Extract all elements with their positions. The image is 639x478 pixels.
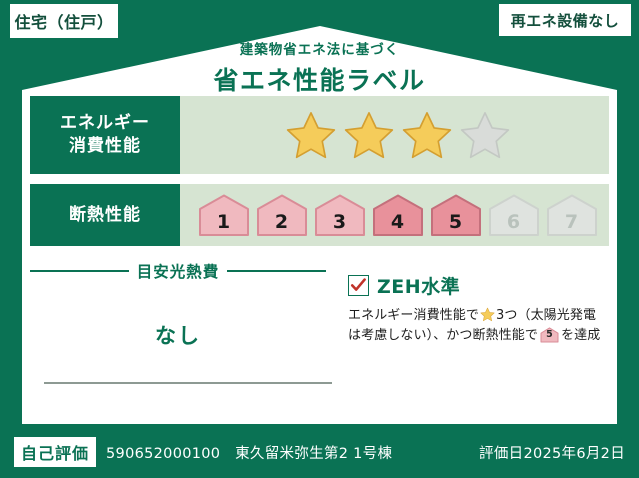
insulation-level-number: 4: [372, 211, 424, 233]
zeh-desc-part1: エネルギー消費性能で: [348, 308, 479, 323]
label-content: エネルギー 消費性能 断熱性能 1234567 目安光熱費: [22, 96, 617, 424]
label-lower-section: 目安光熱費 なし ZEH水準 エネルギー消費性能で3つ（太陽光発電は考慮しな: [22, 258, 617, 418]
insulation-level-number: 1: [198, 211, 250, 233]
energy-performance-label-line1: エネルギー: [60, 112, 150, 135]
insulation-badge-inline: 5: [540, 327, 559, 343]
insulation-badge-inline-number: 5: [540, 328, 559, 343]
insulation-level-number: 7: [546, 211, 598, 233]
utility-cost-value: なし: [30, 320, 326, 350]
zeh-checkbox[interactable]: [348, 275, 369, 296]
insulation-level-badge-3: 3: [314, 193, 366, 237]
energy-performance-label: 住宅（住戸） 再エネ設備なし 建築物省エネ法に基づく 省エネ性能ラベル エネルギ…: [0, 0, 639, 478]
insulation-level-badge-6: 6: [488, 193, 540, 237]
zeh-desc-part3: を達成: [561, 328, 600, 343]
utility-cost-block: 目安光熱費 なし: [30, 258, 326, 418]
insulation-level-badge-4: 4: [372, 193, 424, 237]
star-icon-empty: [459, 110, 511, 160]
insulation-level-number: 3: [314, 211, 366, 233]
building-id-and-name: 590652000100 東久留米弥生第2 1号棟: [106, 442, 392, 463]
zeh-block: ZEH水準 エネルギー消費性能で3つ（太陽光発電は考慮しない）、かつ断熱性能で5…: [326, 258, 609, 418]
insulation-performance-scale-area: 1234567: [180, 184, 609, 246]
star-icon-filled: [285, 110, 337, 160]
label-subtitle: 建築物省エネ法に基づく: [0, 38, 639, 58]
insulation-level-number: 5: [430, 211, 482, 233]
label-title-block: 建築物省エネ法に基づく 省エネ性能ラベル: [0, 38, 639, 97]
rule-right: [227, 270, 326, 272]
energy-performance-row: エネルギー 消費性能: [30, 96, 609, 174]
insulation-level-number: 6: [488, 211, 540, 233]
evaluation-date: 評価日2025年6月2日: [479, 442, 625, 463]
check-icon: [350, 277, 367, 294]
zeh-description: エネルギー消費性能で3つ（太陽光発電は考慮しない）、かつ断熱性能で5を達成: [348, 306, 609, 346]
zeh-heading: ZEH水準: [348, 272, 609, 299]
insulation-level-badge-1: 1: [198, 193, 250, 237]
insulation-performance-row: 断熱性能 1234567: [30, 184, 609, 246]
star-icon-inline: [480, 307, 495, 322]
utility-cost-heading: 目安光熱費: [30, 260, 326, 282]
energy-performance-label: エネルギー 消費性能: [30, 96, 180, 174]
insulation-performance-label-text: 断熱性能: [69, 204, 141, 227]
label-footer: 自己評価 590652000100 東久留米弥生第2 1号棟 評価日2025年6…: [0, 426, 639, 478]
energy-performance-label-line2: 消費性能: [69, 135, 141, 158]
label-title: 省エネ性能ラベル: [0, 61, 639, 97]
insulation-level-scale: 1234567: [198, 193, 598, 237]
insulation-level-badge-2: 2: [256, 193, 308, 237]
insulation-level-badge-5: 5: [430, 193, 482, 237]
rule-left: [30, 270, 129, 272]
zeh-desc-star-count: 3つ（太陽光発電: [496, 308, 596, 323]
utility-cost-bottom-rule: [44, 382, 332, 384]
insulation-level-number: 2: [256, 211, 308, 233]
insulation-performance-label: 断熱性能: [30, 184, 180, 246]
self-evaluation-badge: 自己評価: [14, 437, 96, 467]
zeh-desc-part2: は考慮しない）、かつ断熱性能で: [348, 328, 538, 343]
zeh-title: ZEH水準: [377, 272, 460, 299]
star-icon-filled: [401, 110, 453, 160]
insulation-level-badge-7: 7: [546, 193, 598, 237]
star-rating: [285, 110, 511, 160]
energy-performance-stars-area: [180, 96, 609, 174]
renewable-equipment-tag: 再エネ設備なし: [499, 4, 631, 36]
dwelling-type-tag: 住宅（住戸）: [10, 4, 118, 38]
utility-cost-heading-text: 目安光熱費: [129, 260, 228, 282]
star-icon-filled: [343, 110, 395, 160]
